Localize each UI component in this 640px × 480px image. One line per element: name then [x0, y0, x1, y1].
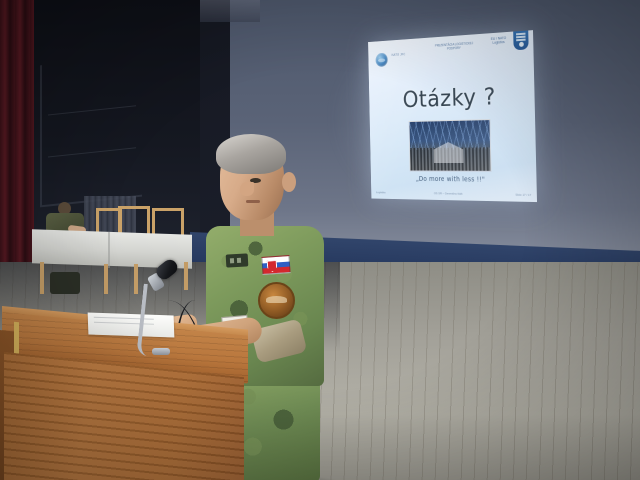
globe-logo-icon [375, 53, 387, 67]
slide-footer-center: OS SR – Generálny štáb [434, 191, 463, 195]
slide-header-center: PREZENTÁCIA LOGISTICKEJ PODPORY [429, 41, 480, 52]
red-stage-curtain [0, 0, 34, 275]
hair [216, 134, 286, 174]
table-leg [40, 262, 44, 294]
round-unit-insignia [258, 282, 295, 319]
table-leg [104, 264, 108, 294]
slovakia-flag-patch [261, 255, 290, 275]
slide-footer-left: Logistika [376, 190, 386, 194]
rank-insignia-patch [226, 253, 249, 267]
table-cloth-seam [108, 232, 110, 268]
microphone-base [152, 348, 170, 355]
slide-title: Otázky ? [369, 82, 535, 113]
slide-footer: Logistika OS SR – Generálny štáb Slide 1… [376, 189, 531, 198]
ear [282, 172, 296, 192]
slide-header-right: EU / NATO Logistics [487, 36, 511, 46]
slide-header-left: NATO JFC [392, 51, 425, 57]
slide-embedded-photo [409, 119, 492, 172]
nose [240, 182, 254, 196]
seated-legs [50, 272, 80, 294]
stage-truss-structure [40, 55, 142, 208]
projection-screen: NATO JFC PREZENTÁCIA LOGISTICKEJ PODPORY… [368, 30, 537, 202]
slide-footer-right: Slide 17 / 17 [515, 192, 531, 196]
table-leg [134, 264, 138, 294]
table-leg [184, 262, 188, 290]
shield-crest-logo-icon [513, 30, 529, 50]
slide-subtitle: „Do more with less !!" [371, 175, 537, 184]
mouth [246, 200, 260, 203]
speaker-notes-papers [88, 312, 175, 337]
presentation-scene-photo: NATO JFC PREZENTÁCIA LOGISTICKEJ PODPORY… [0, 0, 640, 480]
